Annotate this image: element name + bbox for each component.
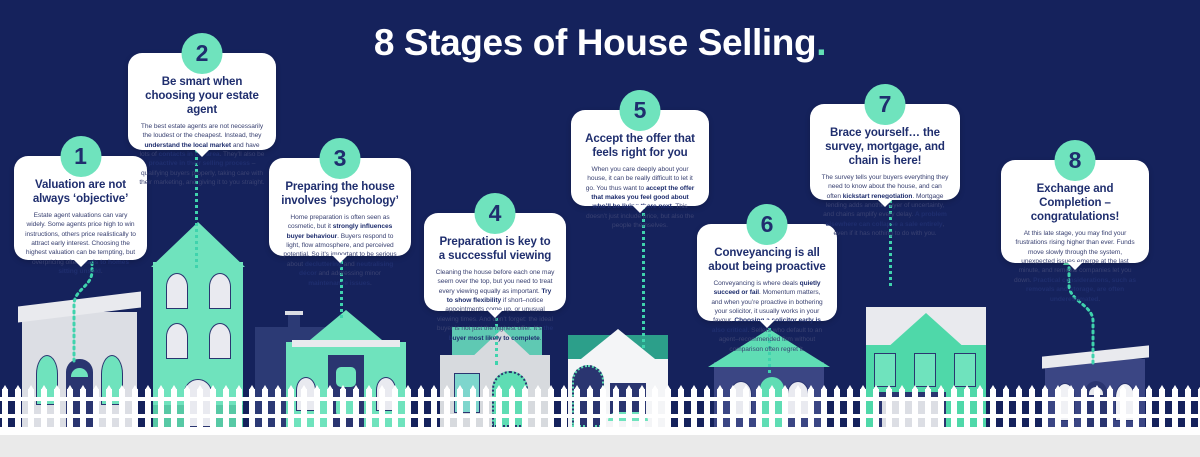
fence-picket — [288, 389, 294, 427]
fence-picket — [197, 389, 203, 427]
stage-heading-7: Brace yourself… the survey, mortgage, an… — [821, 126, 949, 168]
fence-picket — [899, 389, 905, 427]
fence-picket — [1172, 389, 1178, 427]
fence-picket — [756, 389, 762, 427]
fence-picket — [1120, 389, 1126, 427]
fence-picket — [808, 389, 814, 427]
fence-picket — [509, 389, 515, 427]
stage-body-4: Cleaning the house before each one may s… — [435, 268, 555, 343]
stage-heading-1: Valuation are not always ‘objective’ — [25, 178, 136, 206]
fence-picket — [691, 389, 697, 427]
stage-badge-7: 7 — [865, 84, 906, 125]
stage-card-2[interactable]: 2 Be smart when choosing your estate age… — [128, 53, 276, 150]
fence-picket — [1068, 389, 1074, 427]
stage-card-8[interactable]: 8 Exchange and Completion – congratulati… — [1001, 160, 1149, 263]
stage-badge-4: 4 — [475, 193, 516, 234]
fence-picket — [1107, 389, 1113, 427]
stage-badge-1: 1 — [60, 136, 101, 177]
fence-picket — [574, 389, 580, 427]
fence-picket — [821, 389, 827, 427]
card-tail-4 — [487, 310, 503, 318]
fence-picket — [314, 389, 320, 427]
card-tail-1 — [73, 259, 89, 267]
stage-badge-8: 8 — [1055, 140, 1096, 181]
card-tail-5 — [632, 205, 648, 213]
fence-picket — [990, 389, 996, 427]
card-tail-7 — [877, 199, 893, 207]
fence-picket — [951, 389, 957, 427]
card-tail-3 — [332, 255, 348, 263]
fence-picket — [444, 389, 450, 427]
stage-body-6: Conveyancing is where deals quietly succ… — [708, 279, 826, 354]
card-tail-2 — [194, 149, 210, 157]
fence-picket — [496, 389, 502, 427]
stage-badge-6: 6 — [747, 204, 788, 245]
fence-picket — [1055, 389, 1061, 427]
stage-card-7[interactable]: 7 Brace yourself… the survey, mortgage, … — [810, 104, 960, 200]
fence-picket — [405, 389, 411, 427]
fence-picket — [93, 389, 99, 427]
fence-picket — [834, 389, 840, 427]
fence-picket — [41, 389, 47, 427]
fence-picket — [964, 389, 970, 427]
stage-heading-8: Exchange and Completion – congratulation… — [1012, 182, 1138, 224]
fence-picket — [145, 389, 151, 427]
fence-picket — [795, 389, 801, 427]
stage-heading-5: Accept the offer that feels right for yo… — [582, 132, 698, 160]
fence-picket — [327, 389, 333, 427]
fence-picket — [171, 389, 177, 427]
fence-picket — [353, 389, 359, 427]
picket-fence — [0, 385, 1200, 427]
fence-picket — [80, 389, 86, 427]
fence-picket — [613, 389, 619, 427]
page-title-text: 8 Stages of House Selling — [374, 22, 816, 63]
fence-picket — [15, 389, 21, 427]
card-tail-6 — [759, 320, 775, 328]
fence-picket — [1133, 389, 1139, 427]
fence-picket — [769, 389, 775, 427]
fence-picket — [1185, 389, 1191, 427]
fence-picket — [28, 389, 34, 427]
fence-picket — [366, 389, 372, 427]
fence-picket — [626, 389, 632, 427]
fence-picket — [743, 389, 749, 427]
stage-badge-5: 5 — [620, 90, 661, 131]
fence-picket — [67, 389, 73, 427]
fence-picket — [1081, 389, 1087, 427]
fence-picket — [158, 389, 164, 427]
fence-picket — [483, 389, 489, 427]
card-tail-8 — [1067, 262, 1083, 270]
fence-picket — [275, 389, 281, 427]
stage-card-3[interactable]: 3 Preparing the house involves ‘psycholo… — [269, 158, 411, 256]
stage-body-5: When you care deeply about your house, i… — [582, 165, 698, 231]
fence-picket — [548, 389, 554, 427]
fence-picket — [665, 389, 671, 427]
fence-picket — [210, 389, 216, 427]
fence-picket — [431, 389, 437, 427]
fence-picket — [54, 389, 60, 427]
stage-card-5[interactable]: 5 Accept the offer that feels right for … — [571, 110, 709, 206]
fence-picket — [782, 389, 788, 427]
fence-picket — [340, 389, 346, 427]
fence-picket — [249, 389, 255, 427]
fence-picket — [2, 389, 8, 427]
fence-picket — [912, 389, 918, 427]
fence-picket — [106, 389, 112, 427]
fence-picket — [561, 389, 567, 427]
fence-picket — [600, 389, 606, 427]
fence-picket — [730, 389, 736, 427]
fence-picket — [1159, 389, 1165, 427]
stage-heading-3: Preparing the house involves ‘psychology… — [280, 180, 400, 208]
fence-picket — [886, 389, 892, 427]
fence-picket — [847, 389, 853, 427]
stage-card-4[interactable]: 4 Preparation is key to a successful vie… — [424, 213, 566, 311]
stage-heading-6: Conveyancing is all about being proactiv… — [708, 246, 826, 274]
fence-picket — [470, 389, 476, 427]
bottom-bar — [0, 435, 1200, 457]
fence-picket — [977, 389, 983, 427]
fence-picket — [860, 389, 866, 427]
fence-picket — [1094, 389, 1100, 427]
fence-picket — [132, 389, 138, 427]
ground-strip — [0, 427, 1200, 435]
fence-picket — [236, 389, 242, 427]
stage-card-6[interactable]: 6 Conveyancing is all about being proact… — [697, 224, 837, 321]
fence-picket — [639, 389, 645, 427]
infographic-canvas: 8 Stages of House Selling. — [0, 0, 1200, 457]
fence-picket — [925, 389, 931, 427]
fence-picket — [535, 389, 541, 427]
fence-picket — [184, 389, 190, 427]
fence-picket — [938, 389, 944, 427]
fence-picket — [457, 389, 463, 427]
stage-card-1[interactable]: 1 Valuation are not always ‘objective’ E… — [14, 156, 147, 260]
stage-heading-4: Preparation is key to a successful viewi… — [435, 235, 555, 263]
fence-picket — [301, 389, 307, 427]
fence-picket — [704, 389, 710, 427]
fence-picket — [262, 389, 268, 427]
stage-badge-3: 3 — [320, 138, 361, 179]
fence-picket — [1016, 389, 1022, 427]
fence-picket — [1003, 389, 1009, 427]
fence-picket — [678, 389, 684, 427]
stage-heading-2: Be smart when choosing your estate agent — [139, 75, 265, 117]
fence-picket — [223, 389, 229, 427]
stage-body-3: Home preparation is often seen as cosmet… — [280, 213, 400, 288]
fence-picket — [1146, 389, 1152, 427]
fence-picket — [1029, 389, 1035, 427]
fence-picket — [873, 389, 879, 427]
fence-picket — [522, 389, 528, 427]
stage-badge-2: 2 — [182, 33, 223, 74]
fence-picket — [392, 389, 398, 427]
fence-picket — [1042, 389, 1048, 427]
fence-picket — [418, 389, 424, 427]
fence-picket — [379, 389, 385, 427]
fence-picket — [652, 389, 658, 427]
fence-picket — [587, 389, 593, 427]
fence-picket — [717, 389, 723, 427]
page-title-period: . — [816, 22, 826, 63]
fence-picket — [119, 389, 125, 427]
